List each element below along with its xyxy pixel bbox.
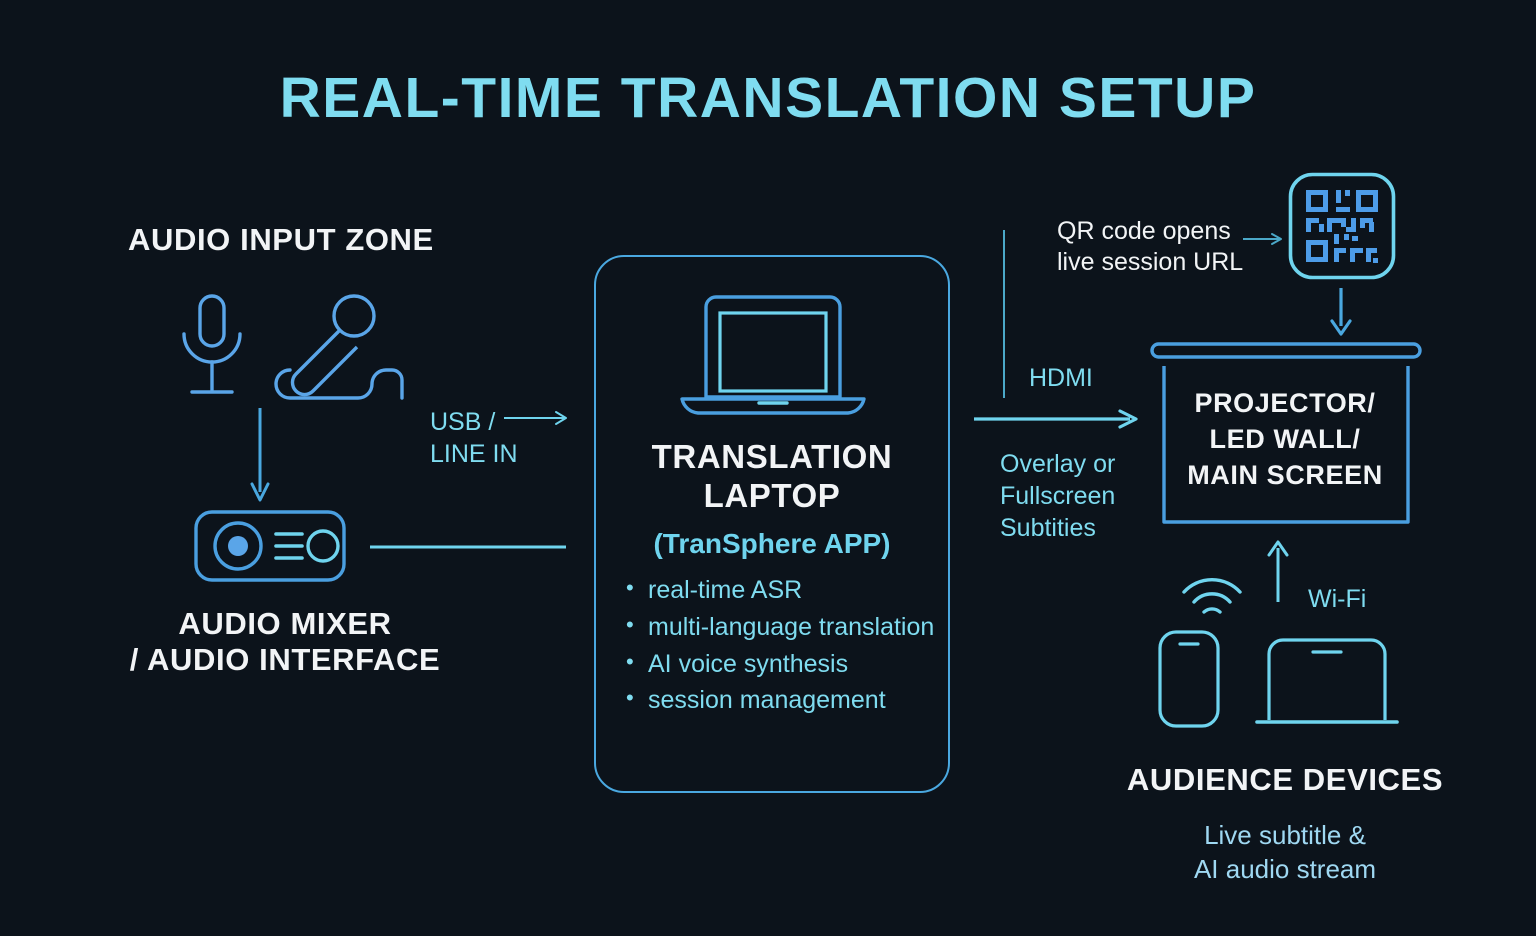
laptop-icon bbox=[678, 295, 868, 415]
mixer-to-laptop-line bbox=[370, 544, 568, 550]
wifi-label: Wi-Fi bbox=[1308, 583, 1366, 615]
hdmi-label: HDMI bbox=[1029, 362, 1093, 394]
projector-screen-label: PROJECTOR/ LED WALL/ MAIN SCREEN bbox=[1158, 386, 1412, 494]
qr-note-line1: QR code opens bbox=[1057, 216, 1243, 247]
qr-to-screen-arrow bbox=[1327, 288, 1355, 338]
usb-label-line2: LINE IN bbox=[430, 438, 518, 470]
laptop-title-line1: TRANSLATION bbox=[604, 438, 940, 477]
usb-connection-arrow bbox=[504, 408, 572, 428]
audience-sub-line1: Live subtitle & bbox=[1110, 818, 1460, 852]
feature-item: AI voice synthesis bbox=[626, 646, 938, 683]
feature-item: real-time ASR bbox=[626, 572, 938, 609]
qr-code-icon bbox=[1288, 172, 1396, 280]
audience-devices-sub: Live subtitle & AI audio stream bbox=[1110, 818, 1460, 887]
audio-mixer-label-line2: / AUDIO INTERFACE bbox=[90, 642, 480, 678]
microphone-icon bbox=[168, 292, 256, 400]
screen-label-line2: LED WALL/ bbox=[1158, 422, 1412, 458]
audience-sub-line2: AI audio stream bbox=[1110, 852, 1460, 886]
wifi-icon bbox=[1180, 578, 1244, 620]
hdmi-arrow bbox=[974, 408, 1142, 430]
smartphone-icon bbox=[1158, 630, 1220, 728]
overlay-note-line3: Subtities bbox=[1000, 512, 1115, 544]
feature-item: multi-language translation bbox=[626, 609, 938, 646]
laptop-small-icon bbox=[1255, 636, 1399, 728]
overlay-subtitles-note: Overlay or Fullscreen Subtities bbox=[1000, 448, 1115, 544]
feature-item: session management bbox=[626, 682, 938, 719]
audio-mixer-icon bbox=[194, 510, 346, 582]
laptop-feature-list: real-time ASR multi-language translation… bbox=[626, 572, 938, 719]
overlay-note-line2: Fullscreen bbox=[1000, 480, 1115, 512]
audio-input-zone-heading: AUDIO INPUT ZONE bbox=[128, 222, 434, 258]
screen-label-line1: PROJECTOR/ bbox=[1158, 386, 1412, 422]
laptop-title-line2: LAPTOP bbox=[604, 477, 940, 516]
app-name-label: (TranSphere APP) bbox=[604, 528, 940, 560]
translation-laptop-title: TRANSLATION LAPTOP bbox=[604, 438, 940, 515]
handheld-microphone-icon bbox=[272, 294, 400, 400]
qr-code-note: QR code opens live session URL bbox=[1057, 216, 1243, 277]
overlay-note-line1: Overlay or bbox=[1000, 448, 1115, 480]
audience-devices-label: AUDIENCE DEVICES bbox=[1110, 762, 1460, 798]
screen-label-line3: MAIN SCREEN bbox=[1158, 458, 1412, 494]
wifi-uplink-arrow bbox=[1265, 540, 1291, 602]
diagram-canvas: REAL-TIME TRANSLATION SETUP AUDIO INPUT … bbox=[0, 0, 1536, 936]
hdmi-vertical-divider bbox=[1002, 230, 1006, 398]
page-title: REAL-TIME TRANSLATION SETUP bbox=[0, 70, 1536, 127]
mic-to-mixer-arrow bbox=[248, 408, 272, 504]
qr-note-line2: live session URL bbox=[1057, 247, 1243, 278]
audio-mixer-label: AUDIO MIXER / AUDIO INTERFACE bbox=[90, 606, 480, 679]
audio-mixer-label-line1: AUDIO MIXER bbox=[90, 606, 480, 642]
qr-note-arrow bbox=[1243, 230, 1287, 248]
